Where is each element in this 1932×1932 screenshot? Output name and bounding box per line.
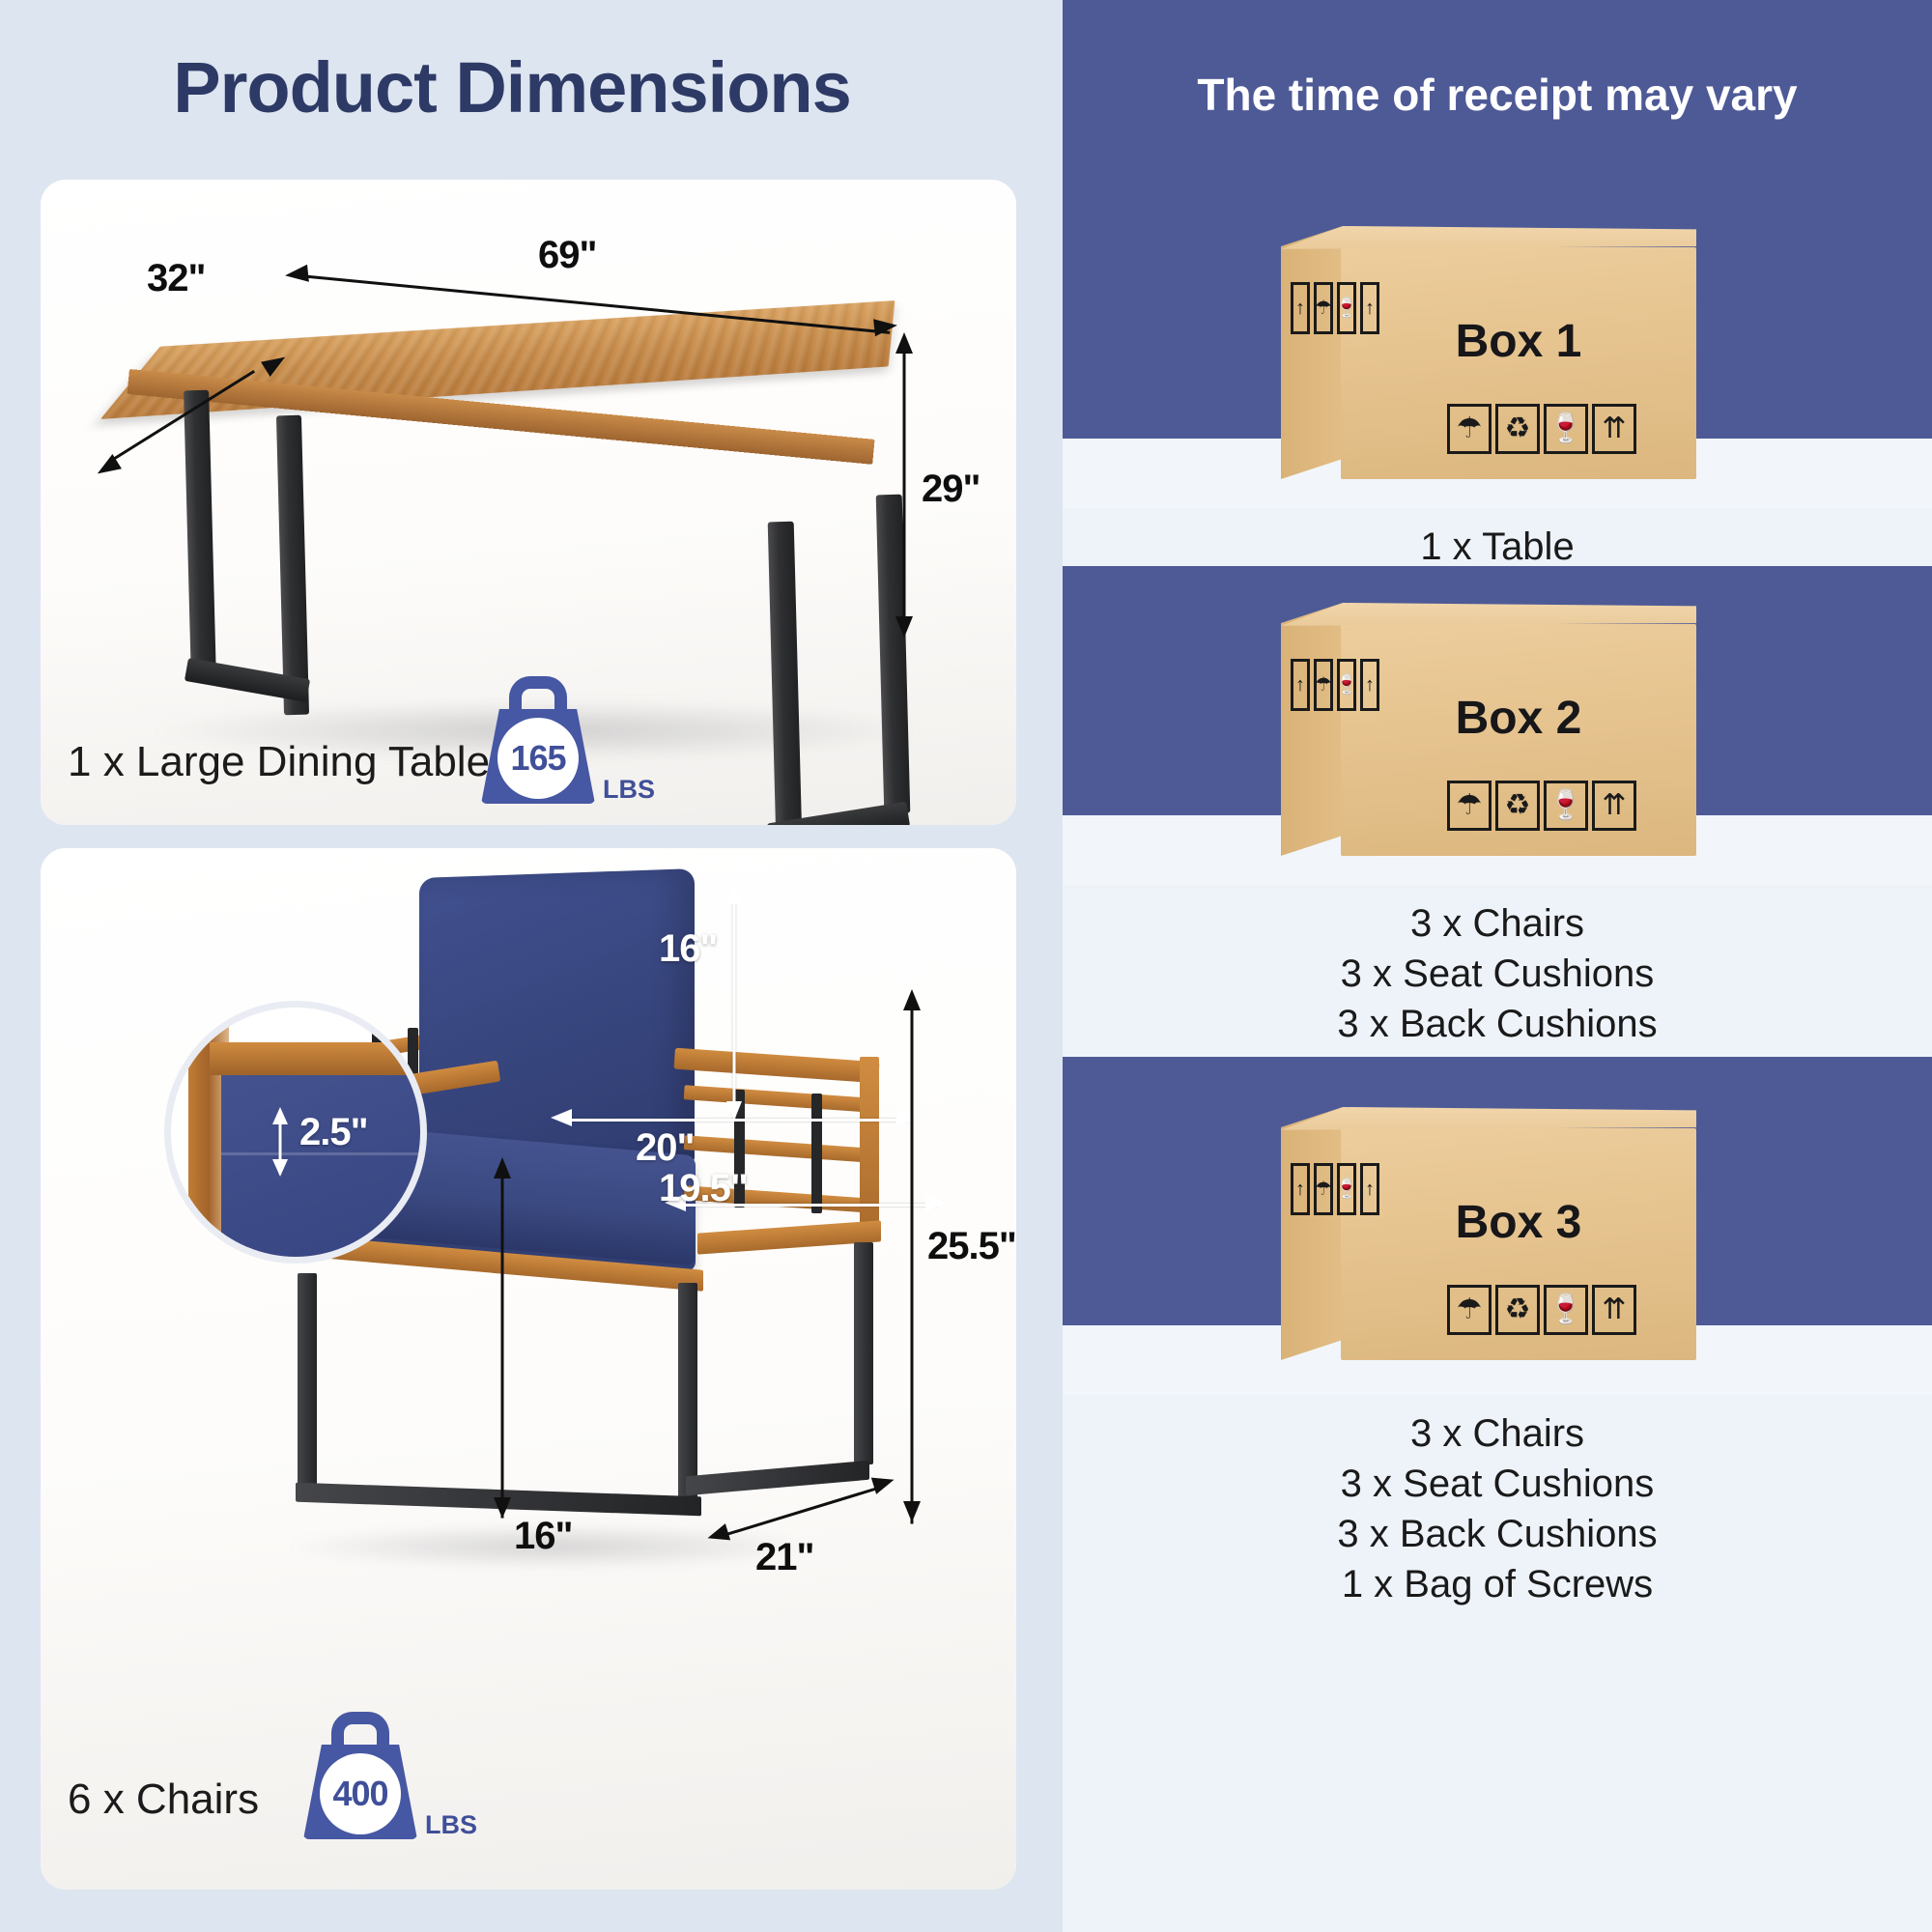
- box-label-2: Box 2: [1341, 692, 1696, 745]
- box-scene-1: ↑ ☂ 🍷 ↑ Box 1 ☂ ♻ 🍷 ⇈: [1063, 189, 1932, 508]
- box-content-line: 3 x Back Cushions: [1063, 1509, 1932, 1559]
- detail-cushion: [221, 1075, 427, 1264]
- weight-value: 165: [497, 718, 579, 799]
- seat-depth-arrow-right: [896, 1109, 918, 1126]
- depth-dimension-label: 32": [147, 257, 205, 300]
- chair-weight-badge-body: 400: [303, 1745, 417, 1839]
- box-scene-2: ↑ ☂ 🍷 ↑ Box 2 ☂ ♻ 🍷 ⇈: [1063, 566, 1932, 885]
- back-height-dimension-line: [733, 898, 736, 1119]
- this-way-up-arrows-icon: ⇈: [1592, 1285, 1636, 1335]
- keep-dry-icon: ☂: [1314, 282, 1333, 334]
- fragile-glass-icon: 🍷: [1544, 1285, 1588, 1335]
- box-content-line: 3 x Seat Cushions: [1063, 1459, 1932, 1509]
- seat-depth-arrow-left: [551, 1109, 572, 1126]
- chair-height-arrow-top: [903, 989, 921, 1010]
- cushion-thickness-detail-circle: [164, 1001, 427, 1264]
- carton-3: ↑ ☂ 🍷 ↑ Box 3 ☂ ♻ 🍷 ⇈: [1281, 1107, 1696, 1360]
- chair-weight-badge: 400 LBS: [303, 1745, 417, 1839]
- recycle-icon: ♻: [1495, 1285, 1540, 1335]
- overall-depth-dimension-label: 21": [755, 1536, 813, 1579]
- seat-width-dimension-label: 19.5": [659, 1167, 748, 1210]
- chair-height-dimension-line: [911, 1003, 914, 1524]
- chair-arm-post-right: [860, 1057, 879, 1240]
- chair-height-arrow-bottom: [903, 1501, 921, 1522]
- seat-height-arrow-bottom: [494, 1497, 511, 1519]
- keep-dry-umbrella-icon: ☂: [1447, 1285, 1492, 1335]
- width-arrow-head-end: [873, 317, 898, 336]
- height-arrow-head-bottom: [895, 616, 913, 638]
- box-label-1: Box 1: [1341, 315, 1696, 368]
- table-product-card: 32" 69" 29" 1 x Large Dining Table 165 L…: [41, 180, 1016, 825]
- box-contents-3: 3 x Chairs 3 x Seat Cushions 3 x Back Cu…: [1063, 1395, 1932, 1634]
- box-panel-2: ↑ ☂ 🍷 ↑ Box 2 ☂ ♻ 🍷 ⇈ 3 x Chairs: [1063, 566, 1932, 1124]
- seat-height-dimension-line: [501, 1171, 504, 1519]
- receipt-notice-text: The time of receipt may vary: [1158, 69, 1835, 121]
- carton-1: ↑ ☂ 🍷 ↑ Box 1 ☂ ♻ 🍷 ⇈: [1281, 226, 1696, 479]
- width-arrow-head-start: [284, 265, 309, 284]
- keep-dry-icon: ☂: [1314, 659, 1333, 711]
- chair-leg-back-right: [854, 1242, 873, 1464]
- back-height-arrow-top: [726, 885, 742, 904]
- box-scene-3: ↑ ☂ 🍷 ↑ Box 3 ☂ ♻ 🍷 ⇈: [1063, 1057, 1932, 1395]
- receipt-notice-header: The time of receipt may vary: [1063, 0, 1932, 189]
- box-content-line: 3 x Chairs: [1063, 1408, 1932, 1459]
- keep-dry-icon: ☂: [1314, 1163, 1333, 1215]
- chair-side-slat-top-right: [684, 1085, 874, 1113]
- chair-foot-right: [686, 1461, 869, 1496]
- weight-badge-body: 165: [481, 709, 595, 804]
- seat-height-dimension-label: 16": [514, 1515, 572, 1558]
- this-way-up-icon: ↑: [1291, 659, 1310, 711]
- table-caption: 1 x Large Dining Table: [68, 738, 490, 786]
- page-title: Product Dimensions: [0, 46, 1024, 128]
- recycle-icon: ♻: [1495, 781, 1540, 831]
- carton-front-symbols-3: ☂ ♻ 🍷 ⇈: [1447, 1285, 1636, 1335]
- this-way-up-icon: ↑: [1291, 282, 1310, 334]
- keep-dry-umbrella-icon: ☂: [1447, 404, 1492, 454]
- keep-dry-umbrella-icon: ☂: [1447, 781, 1492, 831]
- this-way-up-arrows-icon: ⇈: [1592, 404, 1636, 454]
- box-content-line: 3 x Back Cushions: [1063, 999, 1932, 1049]
- back-height-arrow-bottom: [726, 1101, 742, 1121]
- carton-2: ↑ ☂ 🍷 ↑ Box 2 ☂ ♻ 🍷 ⇈: [1281, 603, 1696, 856]
- height-dimension-line: [903, 348, 906, 636]
- carton-side-face-3: [1281, 1107, 1343, 1360]
- chair-side-post-right-b: [811, 1094, 822, 1213]
- chair-height-dimension-label: 25.5": [927, 1225, 1016, 1268]
- table-weight-badge: 165 LBS: [481, 709, 595, 804]
- chair-weight-value: 400: [320, 1753, 401, 1834]
- box-content-line: 1 x Table: [1063, 522, 1932, 572]
- chair-weight-unit-label: LBS: [425, 1810, 477, 1840]
- box-content-line: 1 x Bag of Screws: [1063, 1559, 1932, 1609]
- box-content-line: 3 x Seat Cushions: [1063, 949, 1932, 999]
- carton-side-face-1: [1281, 226, 1343, 479]
- fragile-glass-icon: 🍷: [1544, 404, 1588, 454]
- height-dimension-label: 29": [922, 468, 980, 511]
- carton-front-symbols-2: ☂ ♻ 🍷 ⇈: [1447, 781, 1636, 831]
- seat-height-arrow-top: [494, 1157, 511, 1179]
- seat-width-arrow-right: [925, 1194, 947, 1211]
- chair-leg-front-left: [298, 1273, 317, 1501]
- thickness-arrow-bottom: [272, 1159, 288, 1177]
- height-arrow-head-top: [895, 332, 913, 354]
- thickness-dimension-label: 2.5": [299, 1111, 368, 1154]
- this-way-up-arrows-icon: ⇈: [1592, 781, 1636, 831]
- box-panel-3: ↑ ☂ 🍷 ↑ Box 3 ☂ ♻ 🍷 ⇈ 3 x Chairs: [1063, 1057, 1932, 1634]
- back-height-dimension-label: 16": [659, 927, 717, 971]
- recycle-icon: ♻: [1495, 404, 1540, 454]
- chair-product-card: 2.5" 16" 20" 19.5" 25.5": [41, 848, 1016, 1889]
- box-label-3: Box 3: [1341, 1196, 1696, 1249]
- thickness-arrow-top: [272, 1107, 288, 1124]
- table-leg-left-front: [184, 390, 216, 681]
- this-way-up-icon: ↑: [1291, 1163, 1310, 1215]
- table-leg-left-back: [276, 415, 309, 716]
- fragile-glass-icon: 🍷: [1544, 781, 1588, 831]
- seat-depth-dimension-line: [562, 1119, 908, 1122]
- carton-front-symbols-1: ☂ ♻ 🍷 ⇈: [1447, 404, 1636, 454]
- box-content-line: 3 x Chairs: [1063, 898, 1932, 949]
- detail-wood-rail: [210, 1042, 427, 1075]
- width-dimension-label: 69": [538, 234, 596, 277]
- left-column: Product Dimensions 32": [0, 0, 1063, 1932]
- right-column: The time of receipt may vary ↑ ☂ 🍷 ↑ Box…: [1063, 0, 1932, 1932]
- seat-depth-dimension-label: 20": [636, 1126, 694, 1170]
- armrest-right: [673, 1048, 879, 1084]
- chair-caption: 6 x Chairs: [68, 1776, 259, 1824]
- detail-black-bracket: [372, 1017, 387, 1042]
- weight-unit-label: LBS: [603, 775, 655, 805]
- chair-side-slat-mid-right: [684, 1135, 874, 1163]
- carton-side-face-2: [1281, 603, 1343, 856]
- infographic-page: Product Dimensions 32": [0, 0, 1932, 1932]
- chair-illustration: [41, 848, 1016, 1698]
